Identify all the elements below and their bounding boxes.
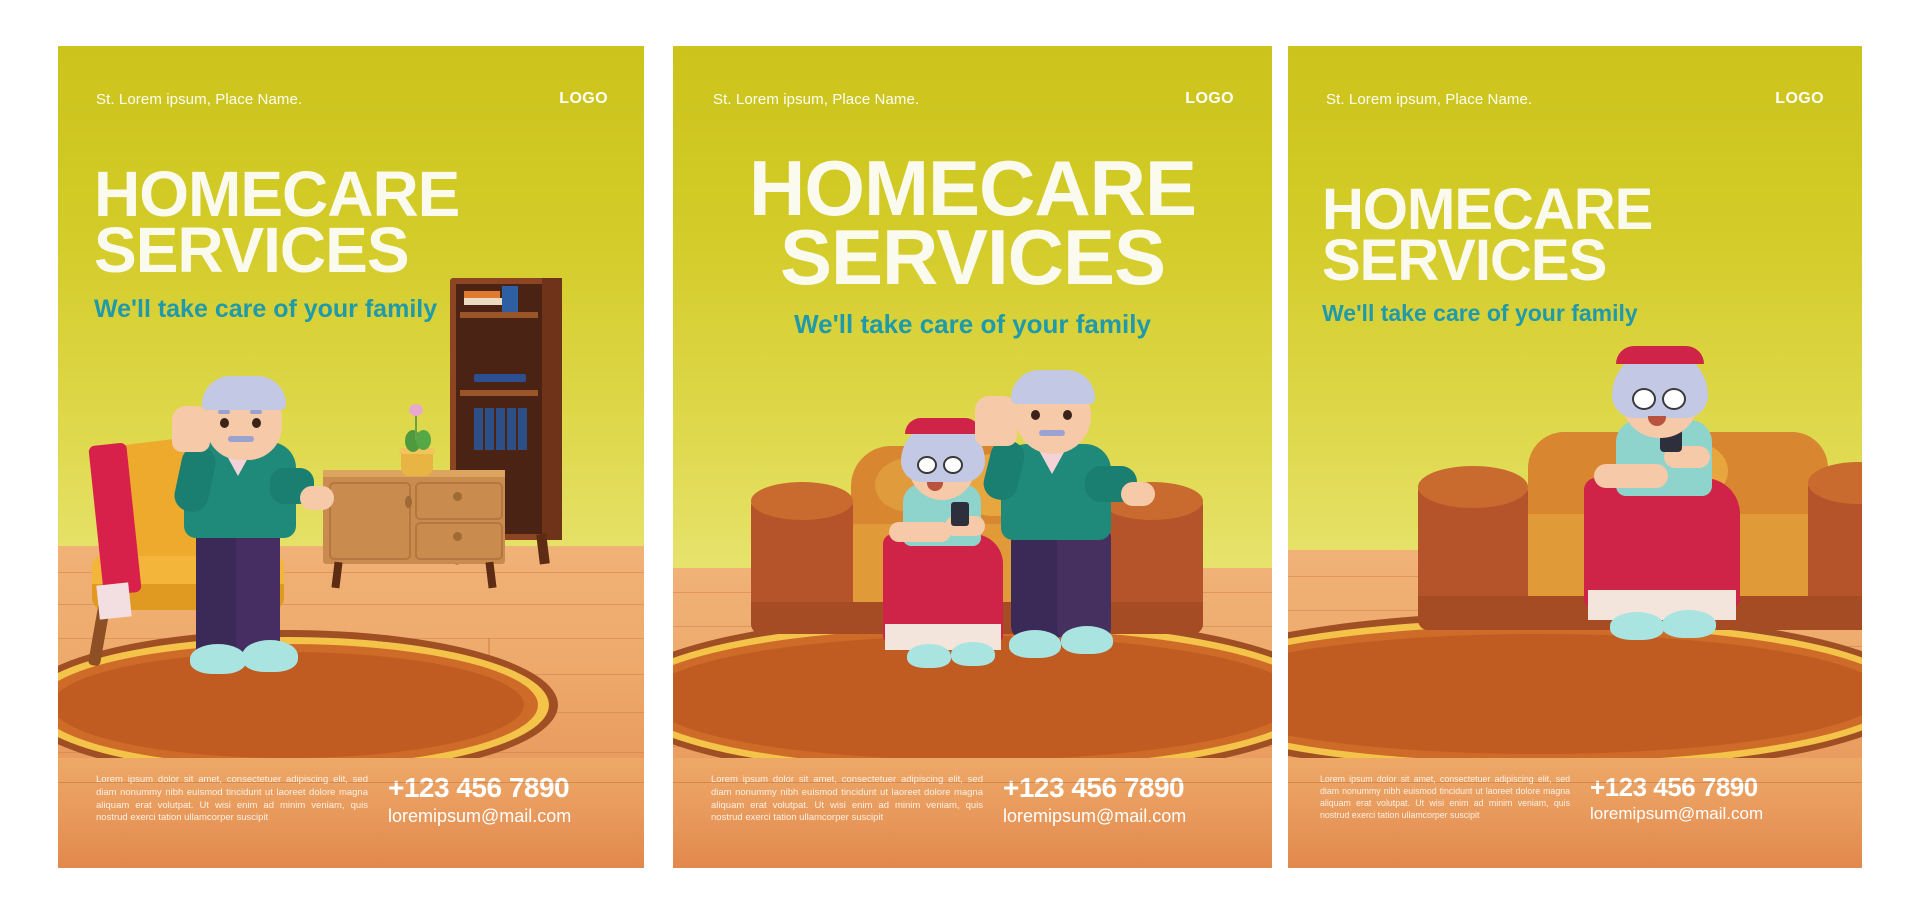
email-address[interactable]: loremipsum@mail.com xyxy=(1003,806,1186,828)
footer-lorem-text: Lorem ipsum dolor sit amet, consectetuer… xyxy=(1320,774,1570,822)
tagline: We'll take care of your family xyxy=(94,295,644,324)
footer-lorem-text: Lorem ipsum dolor sit amet, consectetuer… xyxy=(96,774,368,825)
poster-footer-3: Lorem ipsum dolor sit amet, consectetuer… xyxy=(1288,758,1862,868)
footer-lorem-text: Lorem ipsum dolor sit amet, consectetuer… xyxy=(711,774,983,825)
poster-footer-1: Lorem ipsum dolor sit amet, consectetuer… xyxy=(58,758,644,868)
poster-card-3[interactable]: St. Lorem ipsum, Place Name. LOGO HOMECA… xyxy=(1288,46,1862,868)
elderly-woman-character xyxy=(1556,358,1766,658)
potted-orchid xyxy=(383,404,443,476)
title-line-2: SERVICES xyxy=(1322,235,1862,286)
poster-card-2[interactable]: St. Lorem ipsum, Place Name. LOGO HOMECA… xyxy=(673,46,1272,868)
elderly-man-character xyxy=(969,378,1159,678)
page-title: HOMECARE SERVICES xyxy=(1322,184,1862,286)
poster-card-1[interactable]: St. Lorem ipsum, Place Name. LOGO HOMECA… xyxy=(58,46,644,868)
email-address[interactable]: loremipsum@mail.com xyxy=(388,806,571,828)
title-line-2: SERVICES xyxy=(94,222,644,278)
phone-number[interactable]: +123 456 7890 xyxy=(388,774,571,802)
tagline: We'll take care of your family xyxy=(673,309,1272,340)
title-block-2: HOMECARE SERVICES We'll take care of you… xyxy=(673,154,1272,340)
tagline: We'll take care of your family xyxy=(1322,300,1862,327)
sideboard xyxy=(323,470,505,564)
poster-header-3: St. Lorem ipsum, Place Name. LOGO xyxy=(1288,46,1862,108)
title-block-1: HOMECARE SERVICES We'll take care of you… xyxy=(58,166,644,324)
title-line-2: SERVICES xyxy=(673,223,1272,292)
address-line: St. Lorem ipsum, Place Name. xyxy=(1326,91,1532,108)
poster-set-canvas: St. Lorem ipsum, Place Name. LOGO HOMECA… xyxy=(0,0,1920,918)
phone-number[interactable]: +123 456 7890 xyxy=(1003,774,1186,802)
poster-header-2: St. Lorem ipsum, Place Name. LOGO xyxy=(673,46,1272,108)
page-title: HOMECARE SERVICES xyxy=(94,166,644,279)
page-title: HOMECARE SERVICES xyxy=(673,154,1272,291)
mobile-phone-icon xyxy=(951,502,969,526)
elderly-man-character xyxy=(150,382,350,682)
phone-number[interactable]: +123 456 7890 xyxy=(1590,774,1763,800)
title-block-3: HOMECARE SERVICES We'll take care of you… xyxy=(1288,184,1862,327)
email-address[interactable]: loremipsum@mail.com xyxy=(1590,804,1763,824)
logo-text: LOGO xyxy=(1775,90,1824,108)
logo-text: LOGO xyxy=(1185,90,1234,108)
logo-text: LOGO xyxy=(559,90,608,108)
address-line: St. Lorem ipsum, Place Name. xyxy=(96,91,302,108)
address-line: St. Lorem ipsum, Place Name. xyxy=(713,91,919,108)
poster-footer-2: Lorem ipsum dolor sit amet, consectetuer… xyxy=(673,758,1272,868)
poster-header-1: St. Lorem ipsum, Place Name. LOGO xyxy=(58,46,644,108)
